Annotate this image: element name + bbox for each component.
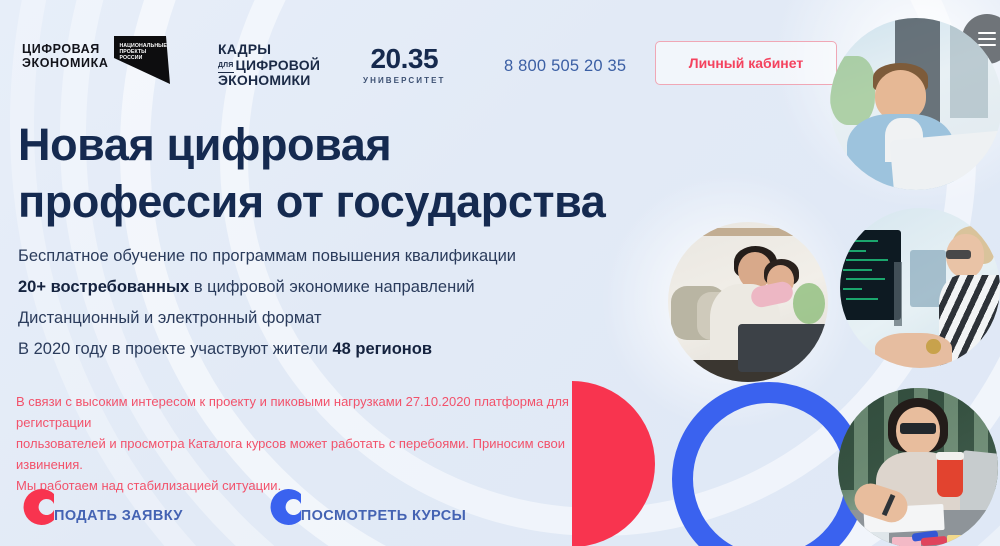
page-title: Новая цифровая профессия от государства xyxy=(18,116,658,230)
logo-kadry-dlya-cifrovoy-ekonomiki[interactable]: КАДРЫ ДЛЯ ЦИФРОВОЙ ЭКОНОМИКИ xyxy=(218,42,320,89)
cta-row: ПОДАТЬ ЗАЯВКУ ПОСМОТРЕТЬ КУРСЫ xyxy=(14,484,544,530)
notice-line-1: В связи с высоким интересом к проекту и … xyxy=(16,391,576,433)
university-caption: УНИВЕРСИТЕТ xyxy=(363,76,446,85)
logo-kadry-line1: КАДРЫ xyxy=(218,42,320,58)
flag-label: НАЦИОНАЛЬНЫЕ ПРОЕКТЫ РОССИИ xyxy=(119,43,163,62)
view-courses-button-label: ПОСМОТРЕТЬ КУРСЫ xyxy=(301,508,466,530)
landing-page: ЦИФРОВАЯ ЭКОНОМИКА НАЦИОНАЛЬНЫЕ ПРОЕКТЫ … xyxy=(0,0,1000,546)
hero-bullet-1-text: Бесплатное обучение по программам повыше… xyxy=(18,247,516,265)
hero-bullet-1: Бесплатное обучение по программам повыше… xyxy=(18,246,658,267)
logo-de-line1: ЦИФРОВАЯ xyxy=(22,42,108,56)
hero-bullet-4-bold: 48 регионов xyxy=(332,340,431,358)
logo-kadry-line3: ЭКОНОМИКИ xyxy=(218,73,320,89)
hero-bullet-2-bold: 20+ востребованных xyxy=(18,278,189,296)
photo-woman-coding xyxy=(840,208,1000,368)
apply-button[interactable]: ПОДАТЬ ЗАЯВКУ xyxy=(14,484,183,530)
view-courses-button[interactable]: ПОСМОТРЕТЬ КУРСЫ xyxy=(261,484,466,530)
hero-bullet-2-text: в цифровой экономике направлений xyxy=(189,278,474,296)
hero-bullet-4: В 2020 году в проекте участвуют жители 4… xyxy=(18,339,658,360)
photo-woman-with-coffee xyxy=(838,388,998,546)
hero-section: Новая цифровая профессия от государства … xyxy=(18,116,658,370)
hero-bullet-4-text: В 2020 году в проекте участвуют жители xyxy=(18,340,332,358)
photo-mother-and-daughter xyxy=(668,222,828,382)
notice-line-2: пользователей и просмотра Каталога курсо… xyxy=(16,433,576,475)
c-arc-icon-red xyxy=(14,484,60,530)
blue-ring-decor xyxy=(672,382,866,546)
logo-university-2035[interactable]: 20.35 УНИВЕРСИТЕТ xyxy=(363,44,446,85)
logo-digital-economy-text: ЦИФРОВАЯ ЭКОНОМИКА xyxy=(22,36,108,70)
logo-de-line2: ЭКОНОМИКА xyxy=(22,56,108,70)
personal-account-button[interactable]: Личный кабинет xyxy=(655,41,837,85)
hero-bullet-3: Дистанционный и электронный формат xyxy=(18,308,658,329)
logo-kadry-line2-row: ДЛЯ ЦИФРОВОЙ xyxy=(218,58,320,74)
university-number: 20.35 xyxy=(363,44,446,74)
service-notice: В связи с высоким интересом к проекту и … xyxy=(16,391,576,496)
national-projects-flag-icon: НАЦИОНАЛЬНЫЕ ПРОЕКТЫ РОССИИ xyxy=(114,36,174,88)
hero-bullet-3-text: Дистанционный и электронный формат xyxy=(18,309,322,327)
page-title-line2: профессия от государства xyxy=(18,176,605,227)
c-arc-icon-blue xyxy=(261,484,307,530)
hero-bullets: Бесплатное обучение по программам повыше… xyxy=(18,246,658,360)
page-title-line1: Новая цифровая xyxy=(18,119,391,170)
hero-bullet-2: 20+ востребованных в цифровой экономике … xyxy=(18,277,658,298)
phone-number[interactable]: 8 800 505 20 35 xyxy=(504,57,626,76)
red-half-circle-decor xyxy=(572,381,655,546)
logo-digital-economy[interactable]: ЦИФРОВАЯ ЭКОНОМИКА НАЦИОНАЛЬНЫЕ ПРОЕКТЫ … xyxy=(22,36,174,88)
photo-man-at-laptop xyxy=(830,18,1000,190)
apply-button-label: ПОДАТЬ ЗАЯВКУ xyxy=(54,508,183,530)
logo-kadry-line2: ЦИФРОВОЙ xyxy=(236,58,321,74)
